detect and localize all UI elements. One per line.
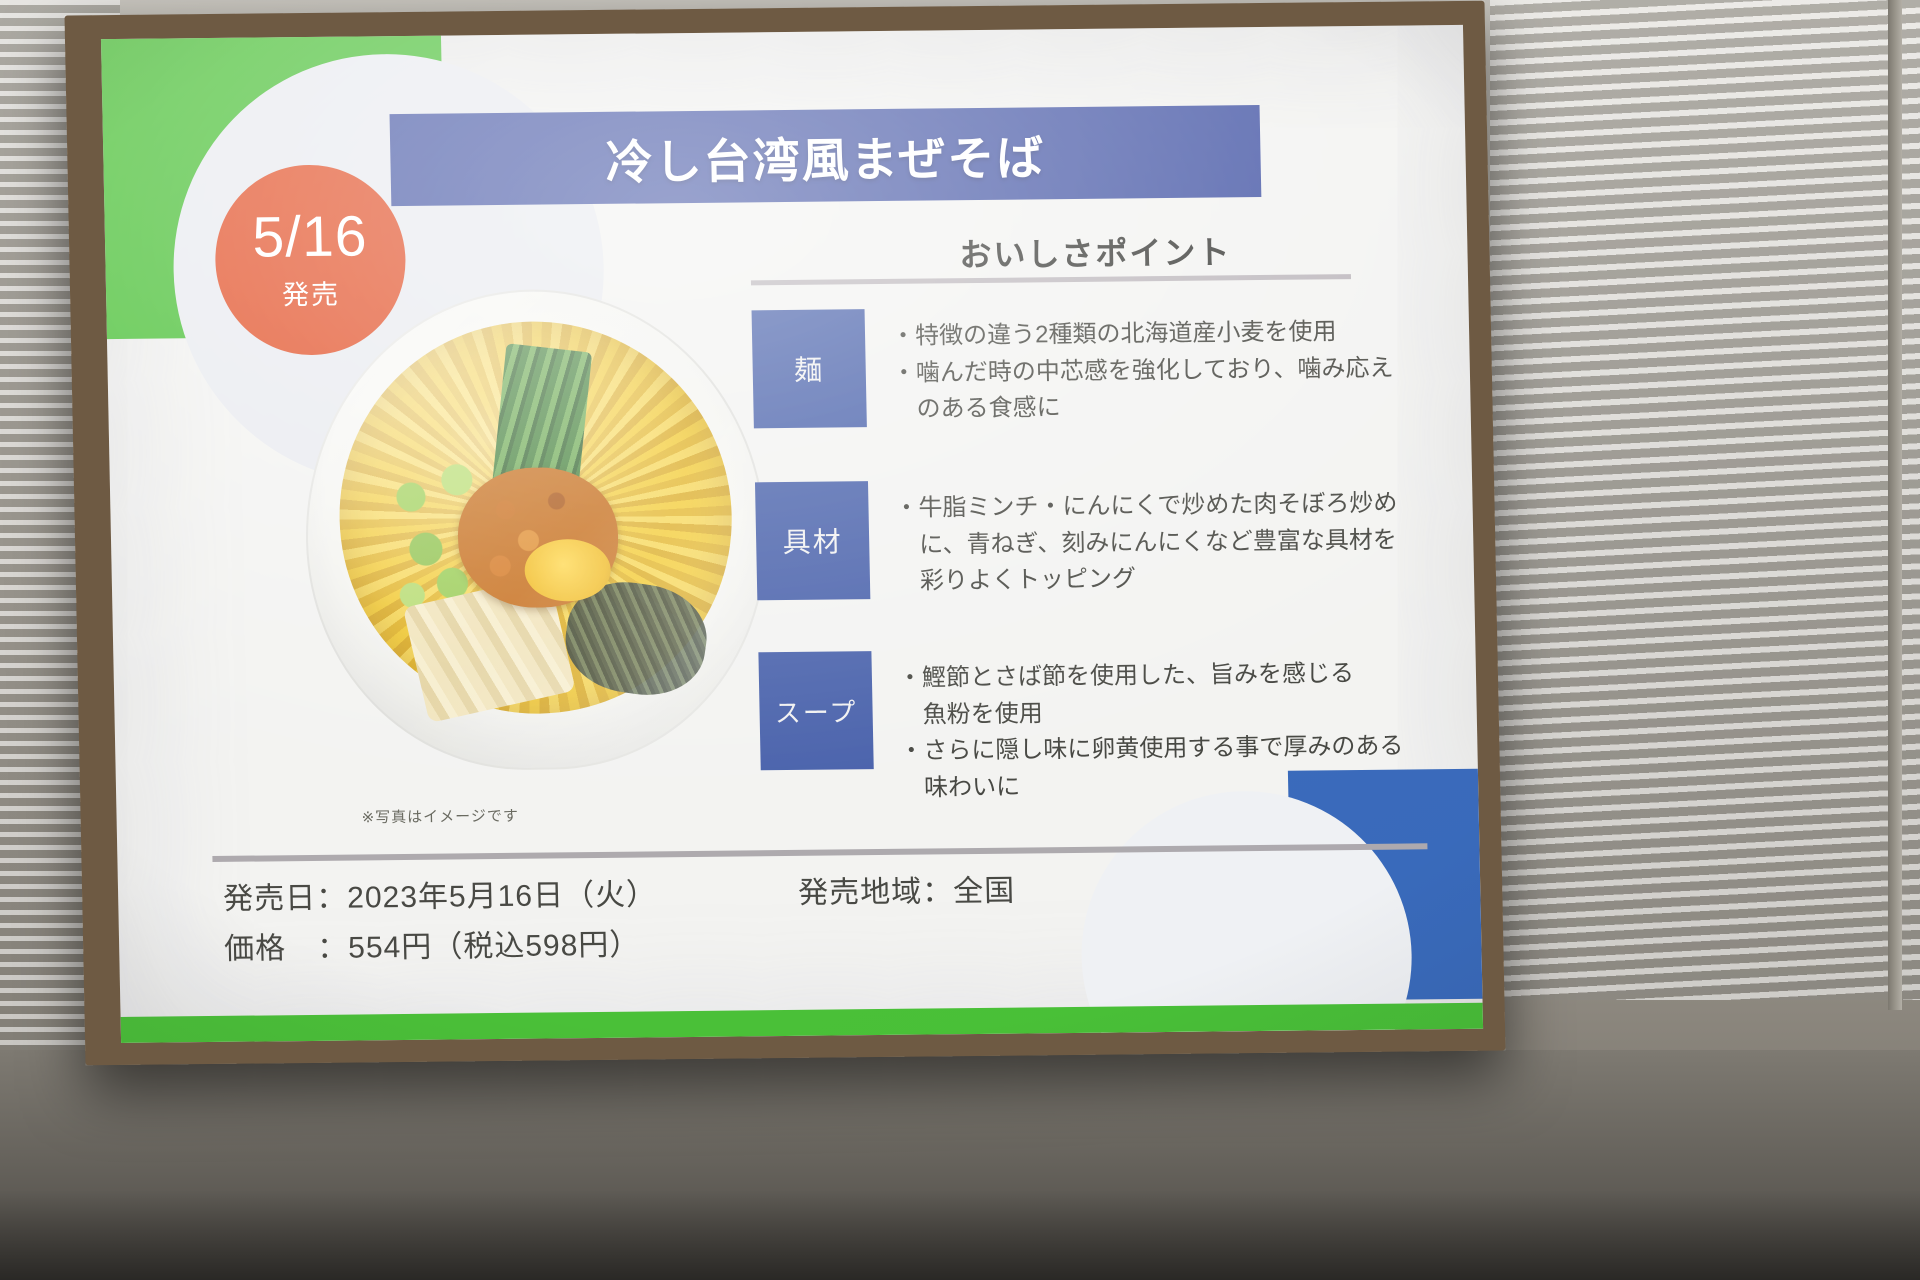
point-line: ・特徴の違う2種類の北海道産小麦を使用 bbox=[891, 316, 1393, 354]
point-line: に、青ねぎ、刻みにんにくなど豊富な具材を bbox=[895, 524, 1398, 562]
points-heading: おいしさポイント bbox=[959, 234, 1232, 273]
point-line: 味わいに bbox=[900, 767, 1405, 805]
floor-shadow bbox=[0, 1190, 1920, 1280]
footer-release-date: 発売日：2023年5月16日（火） bbox=[223, 869, 658, 918]
footer-region: 発売地域：全国 bbox=[798, 866, 1016, 912]
window-frame bbox=[1888, 0, 1902, 1010]
slide-title: 冷し台湾風まぜそば bbox=[605, 119, 1046, 193]
point-line: ・噛んだ時の中芯感を強化しており、噛み応え bbox=[891, 352, 1393, 390]
presentation-slide: 冷し台湾風まぜそば 5/16 発売 bbox=[101, 25, 1483, 1043]
window-blinds-right bbox=[1490, 0, 1920, 1000]
point-row-soup: スープ ・鰹節とさば節を使用した、旨みを感じる 魚粉を使用 ・さらに隠し味に卵黄… bbox=[758, 646, 1404, 811]
point-line: ・さらに隠し味に卵黄使用する事で厚みのある bbox=[899, 731, 1404, 769]
point-line: 魚粉を使用 bbox=[898, 694, 1403, 732]
point-chip-men: 麺 bbox=[752, 309, 867, 428]
point-body-men: ・特徴の違う2種類の北海道産小麦を使用 ・噛んだ時の中芯感を強化しており、噛み応… bbox=[891, 304, 1395, 431]
point-body-soup: ・鰹節とさば節を使用した、旨みを感じる 魚粉を使用 ・さらに隠し味に卵黄使用する… bbox=[897, 646, 1404, 810]
points-heading-wrap: おいしさポイント bbox=[795, 226, 1396, 278]
projection-screen: 冷し台湾風まぜそば 5/16 発売 bbox=[64, 1, 1505, 1066]
photo-disclaimer: ※写真はイメージです bbox=[361, 805, 519, 828]
product-photo: ※写真はイメージです bbox=[290, 257, 781, 822]
footer-right-block: 発売地域：全国 bbox=[798, 866, 1016, 912]
footer-price: 価格 ：554円（税込598円） bbox=[224, 919, 659, 968]
point-line: のある食感に bbox=[892, 389, 1394, 427]
slide-title-bar: 冷し台湾風まぜそば bbox=[390, 105, 1262, 206]
point-chip-soup: スープ bbox=[758, 651, 873, 770]
footer-left-block: 発売日：2023年5月16日（火） 価格 ：554円（税込598円） bbox=[223, 869, 659, 974]
point-line: ・鰹節とさば節を使用した、旨みを感じる bbox=[898, 658, 1403, 696]
point-row-ingredients: 具材 ・牛脂ミンチ・にんにくで炒めた肉そぼろ炒め に、青ねぎ、刻みにんにくなど豊… bbox=[755, 476, 1399, 605]
point-line: 彩りよくトッピング bbox=[896, 561, 1399, 599]
point-row-men: 麺 ・特徴の違う2種類の北海道産小麦を使用 ・噛んだ時の中芯感を強化しており、噛… bbox=[752, 304, 1395, 433]
noodle-bowl-image bbox=[301, 287, 771, 772]
point-chip-ingredients: 具材 bbox=[755, 481, 870, 600]
release-date-value: 5/16 bbox=[252, 208, 368, 266]
point-line: ・牛脂ミンチ・にんにくで炒めた肉そぼろ炒め bbox=[894, 488, 1397, 526]
meeting-room-background: 冷し台湾風まぜそば 5/16 発売 bbox=[0, 0, 1920, 1280]
point-body-ingredients: ・牛脂ミンチ・にんにくで炒めた肉そぼろ炒め に、青ねぎ、刻みにんにくなど豊富な具… bbox=[894, 476, 1399, 603]
